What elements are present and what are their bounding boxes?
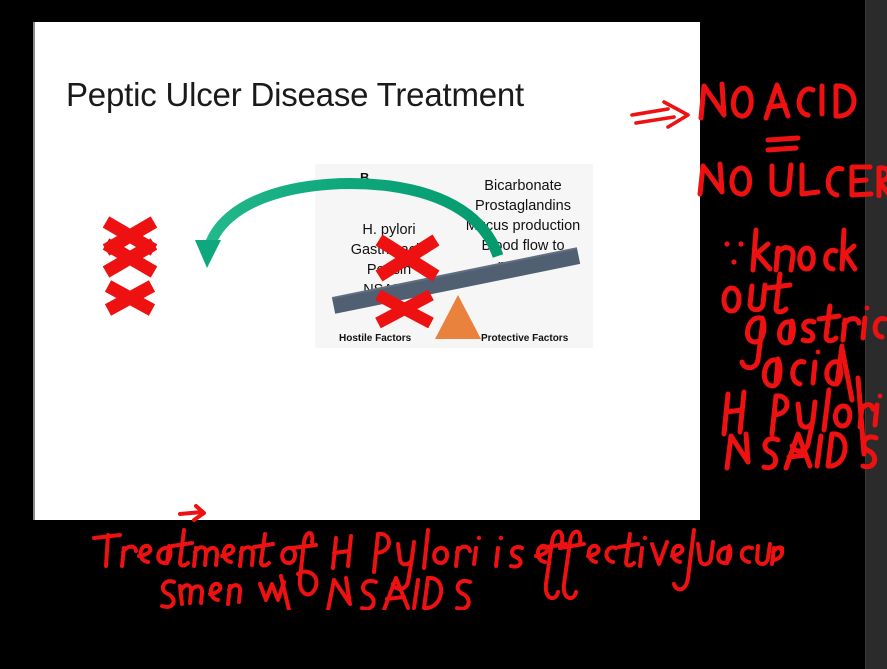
screen-canvas: Peptic Ulcer Disease Treatment B H. pylo… — [0, 0, 887, 669]
fulcrum-triangle — [435, 295, 481, 339]
ink-no-acid-no-ulcer — [696, 78, 887, 198]
page-title: Peptic Ulcer Disease Treatment — [66, 76, 524, 114]
protective-item: Prostaglandins — [455, 196, 591, 216]
right-gutter-strip — [866, 0, 887, 669]
hostile-item: H. pylori — [327, 220, 451, 240]
ink-knock-out-note — [702, 222, 887, 472]
figure-panel-label: B — [360, 170, 369, 185]
protective-factors-caption: Protective Factors — [481, 333, 568, 344]
protective-item: Mucus production — [455, 216, 591, 236]
balance-scale-figure: B H. pylori Gastric acid Pepsin NSAIDs B… — [315, 164, 593, 348]
hostile-item: Gastric acid — [327, 240, 451, 260]
hostile-factors-caption: Hostile Factors — [339, 333, 411, 344]
protective-item: Bicarbonate — [455, 176, 591, 196]
